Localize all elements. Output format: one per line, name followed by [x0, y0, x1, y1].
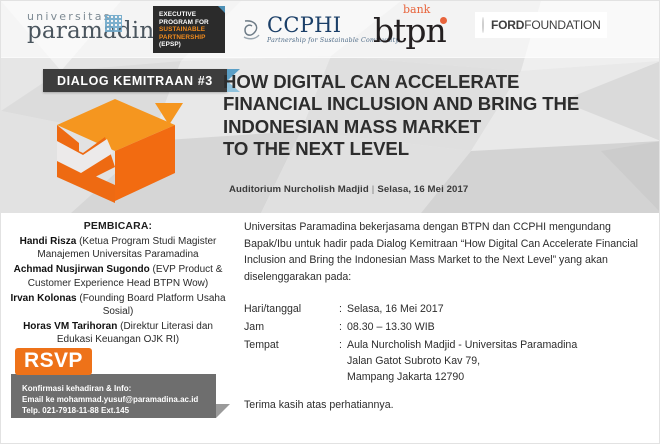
- speaker-item: Achmad Nusjirwan Sugondo (EVP Product & …: [7, 263, 229, 289]
- speaker-item: Handi Risza (Ketua Program Studi Magiste…: [7, 235, 229, 261]
- epsp-line3: SUSTAINABLE: [159, 26, 219, 34]
- invitation-paragraph: Universitas Paramadina bekerjasama denga…: [244, 219, 648, 285]
- body-section: PEMBICARA: Handi Risza (Ketua Program St…: [1, 213, 660, 444]
- ford-name-bold: FORD: [491, 18, 524, 32]
- headline-line-2: FINANCIAL INCLUSION AND BRING THE: [223, 93, 643, 115]
- page-title: HOW DIGITAL CAN ACCELERATE FINANCIAL INC…: [223, 71, 643, 161]
- venue-address-line-2: Jalan Gatot Subroto Kav 79,: [244, 354, 648, 370]
- detail-row: Tempat :Aula Nurcholish Madjid - Univers…: [244, 337, 648, 355]
- rsvp-phone-line[interactable]: Telp. 021-7918-11-88 Ext.145: [22, 405, 206, 416]
- epsp-line1: EXECUTIVE: [159, 11, 219, 19]
- logo-universitas-paramadina: universitas paramadina: [27, 11, 168, 43]
- logo-epsp: EXECUTIVE PROGRAM FOR SUSTAINABLE PARTNE…: [153, 6, 225, 53]
- speaker-role: (Founding Board Platform Usaha Sosial): [79, 293, 225, 317]
- detail-label: Jam: [244, 319, 339, 337]
- btpn-name: btpn: [373, 14, 446, 47]
- hero-section: universitas paramadina EXECUTIVE PROGRAM…: [1, 1, 660, 213]
- headline-line-3: INDONESIAN MASS MARKET: [223, 116, 643, 138]
- event-details-table: Hari/tanggal :Selasa, 16 Mei 2017 Jam :0…: [244, 301, 648, 385]
- detail-row: Hari/tanggal :Selasa, 16 Mei 2017: [244, 301, 648, 319]
- rsvp-contact-box: Konfirmasi kehadiran & Info: Email ke mo…: [11, 374, 216, 418]
- paramadina-line2: paramadina: [27, 20, 168, 43]
- swirl-leaf-icon: [241, 18, 262, 41]
- speaker-name: Achmad Nusjirwan Sugondo: [14, 264, 150, 275]
- dialog-ribbon: DIALOG KEMITRAAN #3: [43, 69, 227, 92]
- date-text: Selasa, 16 Mei 2017: [377, 184, 468, 195]
- speaker-name: Horas VM Tarihoran: [23, 321, 117, 332]
- rsvp-badge: RSVP: [15, 348, 92, 375]
- corner-fold-icon: [218, 6, 225, 13]
- detail-value: Selasa, 16 Mei 2017: [347, 303, 444, 315]
- invitation-column: Universitas Paramadina bekerjasama denga…: [244, 219, 648, 411]
- logo-bank-btpn: bank btpn: [373, 4, 446, 47]
- venue-address-line-3: Mampang Jakarta 12790: [244, 370, 648, 386]
- ford-foundation-seal-icon: [482, 17, 484, 33]
- speaker-item: Horas VM Tarihoran (Direktur Literasi da…: [7, 320, 229, 346]
- closing-text: Terima kasih atas perhatiannya.: [244, 399, 648, 411]
- detail-value: 08.30 – 13.30 WIB: [347, 321, 435, 333]
- detail-row: Jam :08.30 – 13.30 WIB: [244, 319, 648, 337]
- epsp-line2: PROGRAM FOR: [159, 19, 219, 27]
- detail-label: Hari/tanggal: [244, 301, 339, 319]
- headline-line-1: HOW DIGITAL CAN ACCELERATE: [223, 71, 643, 93]
- venue-date-line: Auditorium Nurcholish Madjid|Selasa, 16 …: [229, 184, 468, 195]
- event-poster: universitas paramadina EXECUTIVE PROGRAM…: [0, 0, 660, 444]
- rsvp-email-line[interactable]: Email ke mohammad.yusuf@paramadina.ac.id: [22, 394, 206, 405]
- btpn-bank-word: bank: [403, 4, 430, 15]
- dialog-ribbon-label: DIALOG KEMITRAAN #3: [57, 74, 213, 88]
- logo-ford-foundation: FORDFOUNDATION: [475, 12, 607, 38]
- speaker-name: Irvan Kolonas: [10, 293, 76, 304]
- speakers-heading: PEMBICARA:: [7, 221, 229, 232]
- epsp-line5: (EPSP): [159, 41, 219, 49]
- speakers-column: PEMBICARA: Handi Risza (Ketua Program St…: [7, 221, 229, 349]
- venue-text: Auditorium Nurcholish Madjid: [229, 184, 369, 195]
- speaker-name: Handi Risza: [20, 236, 77, 247]
- btpn-dot-icon: [440, 17, 447, 24]
- rsvp-line-1: Konfirmasi kehadiran & Info:: [22, 383, 206, 394]
- sponsor-logo-bar: universitas paramadina EXECUTIVE PROGRAM…: [1, 1, 660, 58]
- headline-line-4: TO THE NEXT LEVEL: [223, 138, 643, 160]
- ford-name-light: FOUNDATION: [524, 18, 600, 32]
- rsvp-corner-fold-icon: [216, 404, 230, 418]
- detail-label: Tempat: [244, 337, 339, 355]
- detail-value: Aula Nurcholish Madjid - Universitas Par…: [347, 339, 577, 351]
- epsp-line4: PARTNERSHIP: [159, 34, 219, 42]
- speaker-item: Irvan Kolonas (Founding Board Platform U…: [7, 292, 229, 318]
- pixel-grid-icon: [105, 15, 122, 32]
- play-triangle-icon: [153, 101, 185, 134]
